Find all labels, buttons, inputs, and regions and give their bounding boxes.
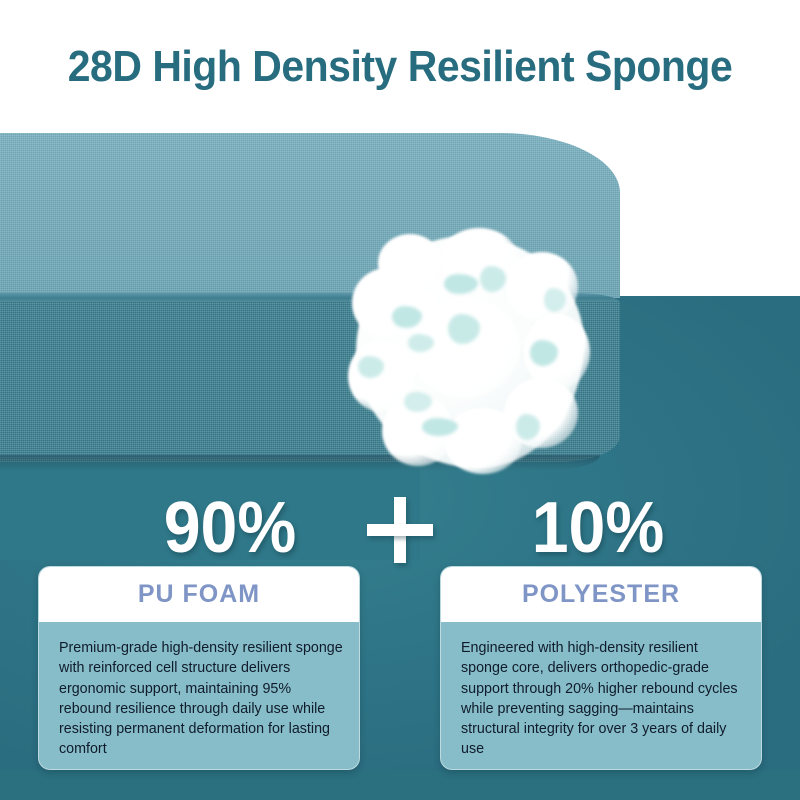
card-body-text: Premium-grade high-density resilient spo… (39, 622, 359, 770)
foam-puff (506, 252, 578, 322)
info-card-pu-foam: PU FOAM Premium-grade high-density resil… (38, 566, 360, 770)
left-percentage: 90% (120, 487, 341, 569)
right-percentage: 10% (488, 487, 709, 569)
teal-background-bottom-band (0, 770, 800, 800)
card-header: PU FOAM (39, 567, 359, 622)
card-title: PU FOAM (138, 580, 260, 609)
info-card-polyester: POLYESTER Engineered with high-density r… (440, 566, 762, 770)
card-body-text: Engineered with high-density resilient s… (441, 622, 761, 770)
foam-puff (444, 408, 522, 474)
card-header: POLYESTER (441, 567, 761, 622)
foam-puff (378, 234, 442, 292)
product-feature-poster: 28D High Density Resilient Sponge 90% (0, 0, 800, 800)
plus-icon (367, 497, 433, 563)
foam-fill-image (348, 228, 592, 476)
page-title: 28D High Density Resilient Sponge (28, 42, 772, 92)
card-title: POLYESTER (522, 580, 680, 609)
